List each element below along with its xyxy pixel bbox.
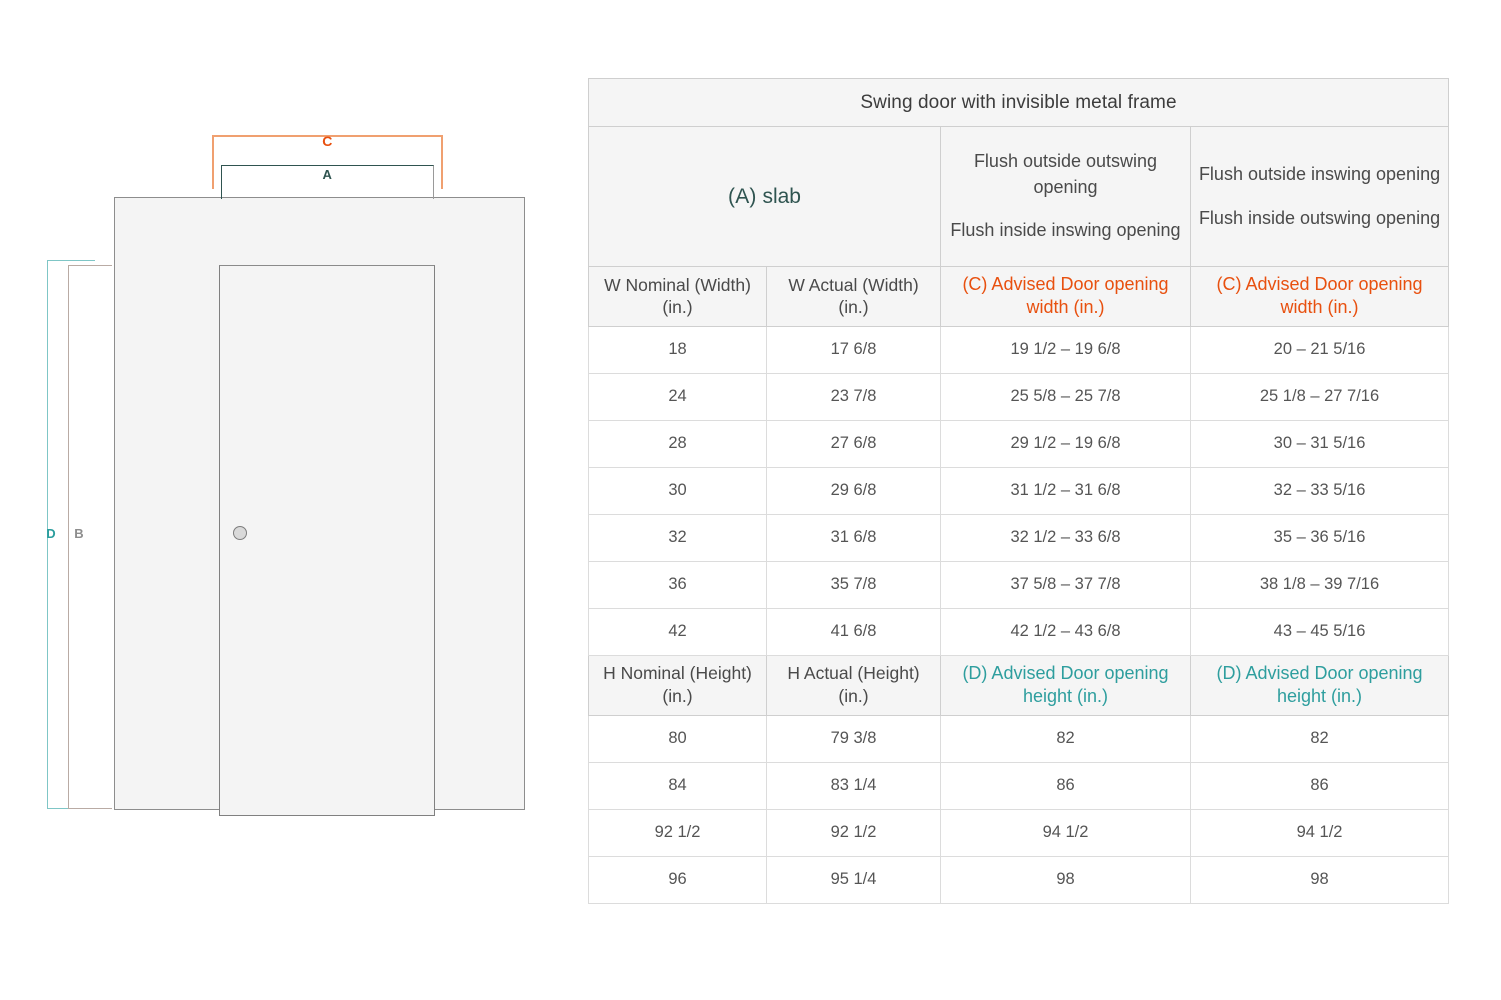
cell-w-actual: 23 7/8 xyxy=(767,373,941,420)
cell-advised-height-inswing: 86 xyxy=(1191,762,1449,809)
swing-door-diagram: C A D B xyxy=(0,0,578,1000)
door-knob-icon xyxy=(233,526,247,540)
dimension-label-c: C xyxy=(212,133,443,149)
cell-w-nominal: 32 xyxy=(589,514,767,561)
cell-h-actual: 92 1/2 xyxy=(767,809,941,856)
cell-advised-width-outswing: 37 5/8 – 37 7/8 xyxy=(941,561,1191,608)
cell-advised-width-outswing: 31 1/2 – 31 6/8 xyxy=(941,467,1191,514)
group-header-outswing-line2: Flush inside inswing opening xyxy=(947,218,1184,244)
cell-advised-height-outswing: 86 xyxy=(941,762,1191,809)
cell-advised-width-outswing: 42 1/2 – 43 6/8 xyxy=(941,608,1191,655)
cell-advised-height-inswing: 98 xyxy=(1191,856,1449,903)
cell-advised-width-inswing: 20 – 21 5/16 xyxy=(1191,326,1449,373)
col-header-w-nominal: W Nominal (Width) (in.) xyxy=(589,267,767,327)
col-header-h-actual: H Actual (Height) (in.) xyxy=(767,655,941,715)
table-title: Swing door with invisible metal frame xyxy=(589,79,1449,127)
col-header-advised-width-outswing: (C) Advised Door opening width (in.) xyxy=(941,267,1191,327)
group-header-outswing: Flush outside outswing opening Flush ins… xyxy=(941,127,1191,267)
cell-h-nominal: 84 xyxy=(589,762,767,809)
door-size-spec-table: Swing door with invisible metal frame (A… xyxy=(588,78,1449,904)
cell-w-nominal: 28 xyxy=(589,420,767,467)
cell-h-nominal: 80 xyxy=(589,715,767,762)
table-row: 92 1/2 92 1/2 94 1/2 94 1/2 xyxy=(589,809,1449,856)
cell-advised-width-inswing: 38 1/8 – 39 7/16 xyxy=(1191,561,1449,608)
col-header-advised-width-inswing: (C) Advised Door opening width (in.) xyxy=(1191,267,1449,327)
cell-h-nominal: 96 xyxy=(589,856,767,903)
col-header-advised-height-inswing: (D) Advised Door opening height (in.) xyxy=(1191,655,1449,715)
dimension-label-d: D xyxy=(42,526,60,541)
table-row: 84 83 1/4 86 86 xyxy=(589,762,1449,809)
cell-w-actual: 27 6/8 xyxy=(767,420,941,467)
cell-advised-height-outswing: 98 xyxy=(941,856,1191,903)
cell-h-actual: 95 1/4 xyxy=(767,856,941,903)
cell-h-actual: 79 3/8 xyxy=(767,715,941,762)
cell-w-actual: 29 6/8 xyxy=(767,467,941,514)
cell-w-actual: 35 7/8 xyxy=(767,561,941,608)
cell-w-nominal: 18 xyxy=(589,326,767,373)
cell-advised-height-inswing: 82 xyxy=(1191,715,1449,762)
col-header-w-actual: W Actual (Width) (in.) xyxy=(767,267,941,327)
table-row: 80 79 3/8 82 82 xyxy=(589,715,1449,762)
table-row: 28 27 6/8 29 1/2 – 19 6/8 30 – 31 5/16 xyxy=(589,420,1449,467)
cell-advised-width-inswing: 32 – 33 5/16 xyxy=(1191,467,1449,514)
cell-advised-width-inswing: 30 – 31 5/16 xyxy=(1191,420,1449,467)
dimension-label-a: A xyxy=(221,167,434,182)
cell-advised-height-outswing: 82 xyxy=(941,715,1191,762)
col-header-h-nominal: H Nominal (Height) (in.) xyxy=(589,655,767,715)
table-title-row: Swing door with invisible metal frame xyxy=(589,79,1449,127)
cell-advised-width-outswing: 32 1/2 – 33 6/8 xyxy=(941,514,1191,561)
cell-advised-width-inswing: 35 – 36 5/16 xyxy=(1191,514,1449,561)
width-column-header-row: W Nominal (Width) (in.) W Actual (Width)… xyxy=(589,267,1449,327)
table-row: 32 31 6/8 32 1/2 – 33 6/8 35 – 36 5/16 xyxy=(589,514,1449,561)
cell-w-actual: 31 6/8 xyxy=(767,514,941,561)
table-row: 18 17 6/8 19 1/2 – 19 6/8 20 – 21 5/16 xyxy=(589,326,1449,373)
group-header-inswing-line1: Flush outside inswing opening xyxy=(1197,162,1442,188)
cell-w-nominal: 30 xyxy=(589,467,767,514)
cell-h-nominal: 92 1/2 xyxy=(589,809,767,856)
cell-advised-height-inswing: 94 1/2 xyxy=(1191,809,1449,856)
dimension-label-b: B xyxy=(70,526,88,541)
spec-table-container: Swing door with invisible metal frame (A… xyxy=(588,78,1448,904)
cell-w-nominal: 36 xyxy=(589,561,767,608)
table-row: 30 29 6/8 31 1/2 – 31 6/8 32 – 33 5/16 xyxy=(589,467,1449,514)
col-header-advised-height-outswing: (D) Advised Door opening height (in.) xyxy=(941,655,1191,715)
cell-advised-width-inswing: 25 1/8 – 27 7/16 xyxy=(1191,373,1449,420)
slab-prefix-a: (A) xyxy=(728,185,757,208)
table-row: 96 95 1/4 98 98 xyxy=(589,856,1449,903)
slab-label: slab xyxy=(762,185,801,208)
group-header-inswing: Flush outside inswing opening Flush insi… xyxy=(1191,127,1449,267)
table-row: 42 41 6/8 42 1/2 – 43 6/8 43 – 45 5/16 xyxy=(589,608,1449,655)
door-slab xyxy=(219,265,435,816)
group-header-inswing-line2: Flush inside outswing opening xyxy=(1197,206,1442,232)
cell-w-actual: 17 6/8 xyxy=(767,326,941,373)
table-row: 36 35 7/8 37 5/8 – 37 7/8 38 1/8 – 39 7/… xyxy=(589,561,1449,608)
cell-w-nominal: 24 xyxy=(589,373,767,420)
group-header-slab: (A) slab xyxy=(589,127,941,267)
table-row: 24 23 7/8 25 5/8 – 25 7/8 25 1/8 – 27 7/… xyxy=(589,373,1449,420)
cell-h-actual: 83 1/4 xyxy=(767,762,941,809)
cell-w-nominal: 42 xyxy=(589,608,767,655)
cell-w-actual: 41 6/8 xyxy=(767,608,941,655)
group-header-outswing-line1: Flush outside outswing opening xyxy=(947,149,1184,200)
cell-advised-width-outswing: 25 5/8 – 25 7/8 xyxy=(941,373,1191,420)
cell-advised-width-outswing: 19 1/2 – 19 6/8 xyxy=(941,326,1191,373)
cell-advised-width-outswing: 29 1/2 – 19 6/8 xyxy=(941,420,1191,467)
cell-advised-height-outswing: 94 1/2 xyxy=(941,809,1191,856)
height-column-header-row: H Nominal (Height) (in.) H Actual (Heigh… xyxy=(589,655,1449,715)
group-header-row: (A) slab Flush outside outswing opening … xyxy=(589,127,1449,267)
cell-advised-width-inswing: 43 – 45 5/16 xyxy=(1191,608,1449,655)
